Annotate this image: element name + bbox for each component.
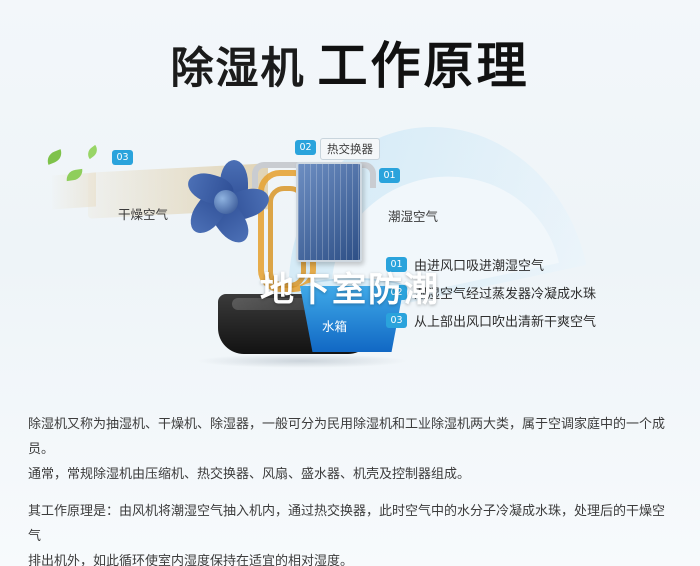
infographic-page: 除湿机工作原理 03 02 01 热交换器 干燥空气 潮湿空气 <box>0 0 700 566</box>
badge-03: 03 <box>112 150 133 165</box>
legend-text: 由进风口吸进潮湿空气 <box>414 255 544 274</box>
leaf-icon <box>45 149 65 165</box>
title-part-1: 除湿机 <box>171 44 306 94</box>
leaf-icon <box>85 145 100 159</box>
legend-item: 01 由进风口吸进潮湿空气 <box>386 250 676 278</box>
legend-number: 01 <box>386 257 407 272</box>
heat-exchanger-fins <box>298 164 360 260</box>
badge-01: 01 <box>379 168 400 183</box>
description-text: 除湿机又称为抽湿机、干燥机、除湿器，一般可分为民用除湿机和工业除湿机两大类，属于… <box>28 412 676 566</box>
paragraph-2-line-2: 排出机外，如此循环使室内湿度保持在适宜的相对湿度。 <box>28 549 676 566</box>
legend-number: 02 <box>386 285 407 300</box>
paragraph-1-line-2: 通常，常规除湿机由压缩机、热交换器、风扇、盛水器、机壳及控制器组成。 <box>28 462 676 487</box>
paragraph-1-line-1: 除湿机又称为抽湿机、干燥机、除湿器，一般可分为民用除湿机和工业除湿机两大类，属于… <box>28 412 676 462</box>
legend-number: 03 <box>386 313 407 328</box>
paragraph-spacer <box>28 487 676 499</box>
legend-list: 01 由进风口吸进潮湿空气 02 潮湿空气经过蒸发器冷凝成水珠 03 从上部出风… <box>386 250 676 334</box>
humid-air-label: 潮湿空气 <box>388 206 438 225</box>
water-tank-label: 水箱 <box>322 316 347 335</box>
page-title: 除湿机工作原理 <box>0 26 700 98</box>
legend-item: 02 潮湿空气经过蒸发器冷凝成水珠 <box>386 278 676 306</box>
ground-shadow <box>196 354 408 368</box>
fan-hub <box>214 190 238 214</box>
fan-icon <box>178 154 274 250</box>
legend-text: 从上部出风口吹出清新干爽空气 <box>414 311 596 330</box>
paragraph-2-line-1: 其工作原理是：由风机将潮湿空气抽入机内，通过热交换器，此时空气中的水分子冷凝成水… <box>28 499 676 549</box>
badge-02: 02 <box>295 140 316 155</box>
title-part-2: 工作原理 <box>318 37 530 95</box>
heat-exchanger-block <box>296 162 362 262</box>
legend-item: 03 从上部出风口吹出清新干爽空气 <box>386 306 676 334</box>
heat-exchanger-label: 热交换器 <box>320 138 380 160</box>
legend-text: 潮湿空气经过蒸发器冷凝成水珠 <box>414 283 596 302</box>
dry-air-label: 干燥空气 <box>118 204 168 223</box>
